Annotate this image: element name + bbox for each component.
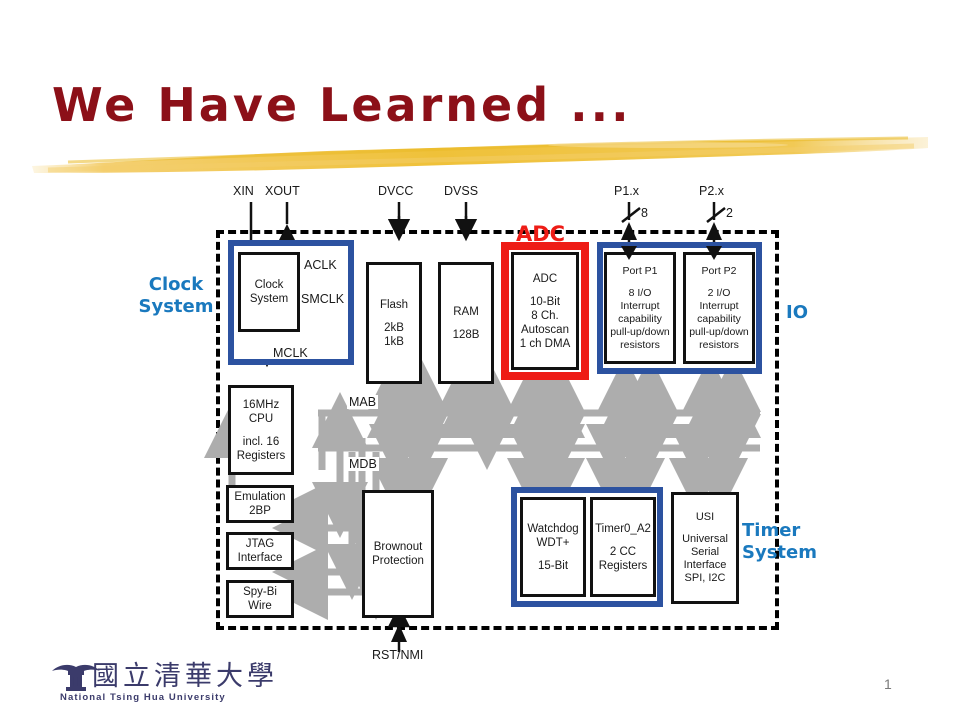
module-line: 8 Ch.: [531, 309, 559, 323]
module-line: 15-Bit: [538, 559, 568, 573]
pin-label-p1x: P1.x: [614, 184, 639, 198]
rst-overline-text: RST: [372, 648, 397, 662]
bus-label-mdb: MDB: [347, 457, 379, 471]
pin-label-dvss: DVSS: [444, 184, 478, 198]
cpu-module: 16MHz CPU incl. 16 Registers: [228, 385, 294, 475]
module-line: Clock: [255, 278, 284, 292]
module-line: Spy-Bi: [243, 585, 277, 599]
annotation-line-1: IO: [786, 302, 808, 323]
timer0-a2-module: Timer0_A2 2 CC Registers: [590, 497, 656, 597]
module-line: 1 ch DMA: [520, 337, 571, 351]
clock-system-module: Clock System: [238, 252, 300, 332]
pin-label-p2x: P2.x: [699, 184, 724, 198]
module-line: Interface: [684, 559, 727, 572]
module-line: RAM: [453, 305, 479, 319]
module-line: SPI, I2C: [685, 572, 726, 585]
module-line: capability: [618, 313, 662, 326]
module-line: resistors: [699, 339, 739, 352]
module-line: Port P1: [622, 265, 657, 278]
module-line: 2BP: [249, 504, 271, 518]
pin-label-rst-nmi: RST/NMI: [372, 648, 423, 662]
msp430-block-diagram: Clock System Flash 2kB 1kB RAM 128B ADC …: [0, 180, 960, 660]
module-line: Brownout: [374, 540, 423, 554]
module-line: USI: [696, 511, 714, 524]
module-line: resistors: [620, 339, 660, 352]
module-line: Universal: [682, 533, 728, 546]
module-line: pull-up/down: [610, 326, 670, 339]
usi-module: USI Universal Serial Interface SPI, I2C: [671, 492, 739, 604]
module-line: 128B: [453, 328, 480, 342]
module-line: Wire: [248, 599, 272, 613]
module-line: Interrupt: [699, 300, 738, 313]
signal-label-smclk: SMCLK: [301, 292, 344, 306]
module-line: capability: [697, 313, 741, 326]
port-p2-module: Port P2 2 I/O Interrupt capability pull-…: [683, 252, 755, 364]
module-line: Emulation: [234, 490, 285, 504]
watchdog-module: Watchdog WDT+ 15-Bit: [520, 497, 586, 597]
module-line: 2 CC: [610, 545, 636, 559]
module-line: 2 I/O: [708, 287, 731, 300]
bus-width-p2: 2: [726, 206, 733, 220]
module-line: 8 I/O: [629, 287, 652, 300]
module-line: ADC: [533, 272, 557, 286]
pin-label-xout: XOUT: [265, 184, 300, 198]
diagram-wires: [0, 180, 960, 660]
brownout-protection-module: Brownout Protection: [362, 490, 434, 618]
module-line: 10-Bit: [530, 295, 560, 309]
flash-module: Flash 2kB 1kB: [366, 262, 422, 384]
pin-label-dvcc: DVCC: [378, 184, 413, 198]
module-line: WDT+: [537, 536, 570, 550]
module-line: 2kB: [384, 321, 404, 335]
ram-module: RAM 128B: [438, 262, 494, 384]
page-title: We Have Learned ...: [52, 78, 632, 132]
slide-root: We Have Learned ...: [0, 0, 960, 720]
signal-label-mclk: MCLK: [273, 346, 308, 360]
module-line: Flash: [380, 298, 408, 312]
annotation-line-1: ADC: [516, 222, 565, 246]
module-line: Interface: [238, 551, 283, 565]
module-line: Port P2: [701, 265, 736, 278]
module-line: Timer0_A2: [595, 522, 651, 536]
pin-label-xin: XIN: [233, 184, 254, 198]
port-p1-module: Port P1 8 I/O Interrupt capability pull-…: [604, 252, 676, 364]
annotation-line-2: System: [139, 296, 214, 317]
module-line: JTAG: [246, 537, 275, 551]
module-line: Protection: [372, 554, 424, 568]
bus-label-mab: MAB: [347, 395, 378, 409]
module-line: Registers: [599, 559, 648, 573]
nmi-text: /NMI: [397, 648, 423, 662]
module-line: Serial: [691, 546, 719, 559]
signal-label-aclk: ACLK: [304, 258, 337, 272]
university-logo-english: National Tsing Hua University: [60, 692, 226, 703]
module-line: Registers: [237, 449, 286, 463]
module-line: Autoscan: [521, 323, 569, 337]
clock-system-annotation: Clock System: [128, 274, 224, 318]
annotation-line-1: Timer: [742, 520, 800, 541]
io-annotation: IO: [786, 302, 808, 324]
module-line: System: [250, 292, 288, 306]
module-line: 16MHz: [243, 398, 279, 412]
annotation-line-2: System: [742, 542, 817, 563]
annotation-line-1: Clock: [149, 274, 203, 295]
jtag-interface-module: JTAG Interface: [226, 532, 294, 570]
adc-annotation: ADC: [516, 222, 565, 246]
spy-bi-wire-module: Spy-Bi Wire: [226, 580, 294, 618]
module-line: pull-up/down: [689, 326, 749, 339]
emulation-2bp-module: Emulation 2BP: [226, 485, 294, 523]
bus-width-p1: 8: [641, 206, 648, 220]
page-number: 1: [884, 676, 892, 692]
module-line: incl. 16: [243, 435, 279, 449]
module-line: Interrupt: [620, 300, 659, 313]
module-line: 1kB: [384, 335, 404, 349]
module-line: Watchdog: [527, 522, 578, 536]
brush-underline-decoration: [28, 132, 932, 176]
module-line: CPU: [249, 412, 273, 426]
timer-system-annotation: Timer System: [742, 520, 838, 564]
adc-module: ADC 10-Bit 8 Ch. Autoscan 1 ch DMA: [511, 252, 579, 370]
